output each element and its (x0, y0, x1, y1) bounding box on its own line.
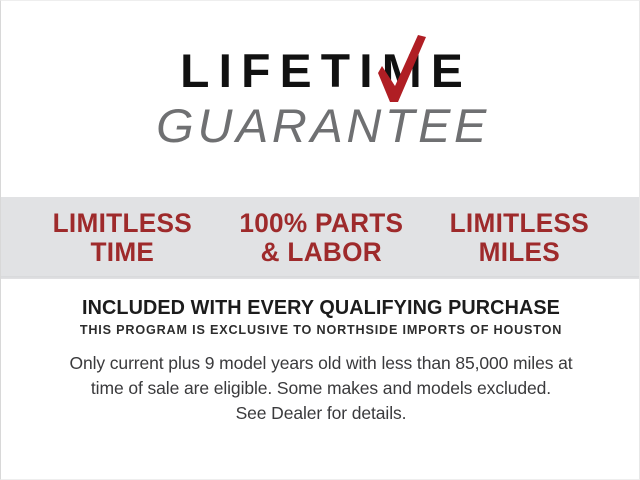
claim-limitless-time: LIMITLESS TIME (26, 209, 219, 267)
headline-block: INCLUDED WITH EVERY QUALIFYING PURCHASE … (1, 297, 640, 338)
logo-wordmark: LIFETIME GUARANTEE (158, 47, 485, 150)
fine-print-line-3: See Dealer for details. (31, 401, 611, 426)
claim-line-2: & LABOR (225, 238, 418, 267)
headline: INCLUDED WITH EVERY QUALIFYING PURCHASE (4, 297, 638, 319)
fine-print-line-2: time of sale are eligible. Some makes an… (31, 376, 611, 401)
logo-lockup: LIFETIME GUARANTEE (1, 47, 640, 150)
logo-primary-text: LIFETIME (154, 47, 488, 95)
claim-parts-and-labor: 100% PARTS & LABOR (225, 209, 418, 267)
claim-line-1: 100% PARTS (225, 209, 418, 238)
claim-limitless-miles: LIMITLESS MILES (423, 209, 616, 267)
logo-secondary-text: GUARANTEE (153, 102, 490, 150)
claim-line-2: TIME (26, 238, 219, 267)
fine-print-disclaimer: Only current plus 9 model years old with… (31, 351, 611, 426)
fine-print-line-1: Only current plus 9 model years old with… (31, 351, 611, 376)
claim-line-2: MILES (423, 238, 616, 267)
subheadline: THIS PROGRAM IS EXCLUSIVE TO NORTHSIDE I… (11, 323, 632, 338)
claim-line-1: LIMITLESS (423, 209, 616, 238)
lifetime-guarantee-poster: LIFETIME GUARANTEE LIMITLESS TIME 100% P… (0, 0, 640, 480)
claims-band: LIMITLESS TIME 100% PARTS & LABOR LIMITL… (1, 197, 640, 279)
claim-line-1: LIMITLESS (26, 209, 219, 238)
